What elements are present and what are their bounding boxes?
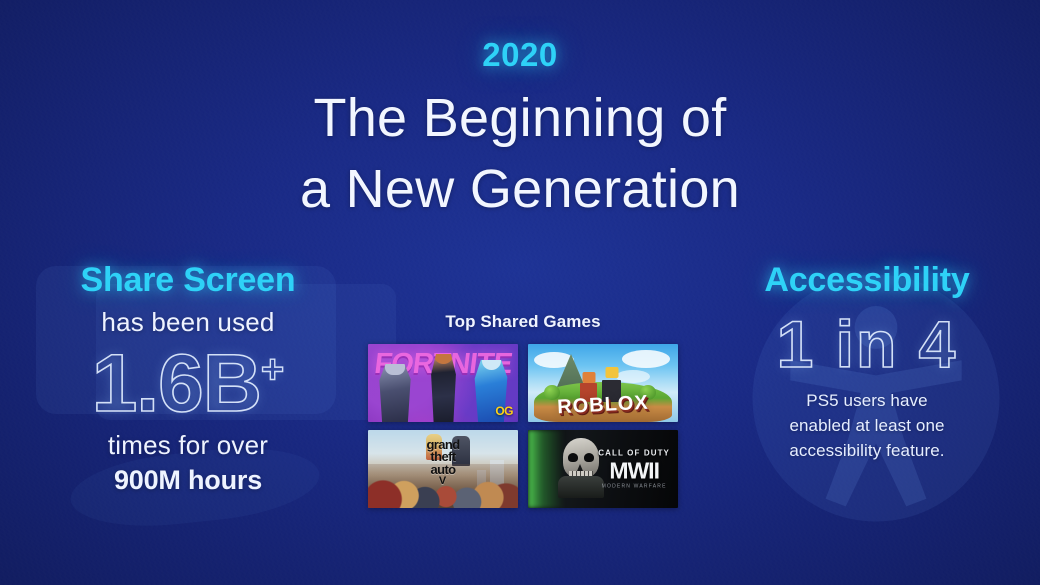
share-screen-line-3: times for over xyxy=(18,429,358,462)
game-tile-roblox[interactable]: ROBLOX Roblox xyxy=(528,344,678,422)
gta-logo: grand theft auto V xyxy=(426,439,459,487)
accessibility-panel: Accessibility 1 in 4 PS5 users have enab… xyxy=(702,262,1032,463)
cod-logo: CALL OF DUTY MWII MODERN WARFARE xyxy=(598,448,670,489)
fortnite-og-badge: OG xyxy=(495,404,513,418)
share-screen-stat-value: 1.6B xyxy=(92,338,261,429)
roblox-cloud-3 xyxy=(616,370,650,383)
share-screen-panel: Share Screen has been used 1.6B+ times f… xyxy=(18,262,358,497)
title-block: 2020 The Beginning of a New Generation xyxy=(0,38,1040,225)
game-tile-fortnite[interactable]: FORTNITE OG Fortnite xyxy=(368,344,518,422)
accessibility-stat: 1 in 4 xyxy=(702,311,1032,377)
roblox-wordmark: ROBLOX xyxy=(557,392,650,420)
gta-logo-line-4: V xyxy=(426,476,459,487)
cod-wordmark: MWII xyxy=(598,458,670,482)
accessibility-caption-line-2: enabled at least one xyxy=(702,414,1032,439)
share-screen-stat-superscript: + xyxy=(261,348,284,392)
top-shared-games-section: Top Shared Games FORTNITE OG Fortnite xyxy=(368,312,678,508)
share-screen-line-1: has been used xyxy=(18,306,358,339)
accessibility-caption: PS5 users have enabled at least one acce… xyxy=(702,389,1032,463)
game-tile-grand-theft-auto-v[interactable]: grand theft auto V Grand Theft Auto V xyxy=(368,430,518,508)
cod-brand: CALL OF DUTY xyxy=(598,448,670,457)
cod-skull-eye-right xyxy=(584,453,594,462)
cod-ghost-skull-icon xyxy=(558,438,604,498)
accessibility-heading: Accessibility xyxy=(702,262,1032,299)
accessibility-caption-line-3: accessibility feature. xyxy=(702,439,1032,464)
roblox-cloud-2 xyxy=(622,350,670,368)
share-screen-heading: Share Screen xyxy=(18,262,358,299)
roblox-character-1-head xyxy=(582,372,595,383)
cod-skull-body xyxy=(558,476,604,498)
share-screen-line-4: 900M hours xyxy=(18,463,358,497)
game-tile-call-of-duty-mwii[interactable]: CALL OF DUTY MWII MODERN WARFARE Call of… xyxy=(528,430,678,508)
roblox-character-2-head xyxy=(605,367,618,378)
infographic-slide: 2020 The Beginning of a New Generation S… xyxy=(0,0,1040,585)
year-label: 2020 xyxy=(0,38,1040,73)
accessibility-caption-line-1: PS5 users have xyxy=(702,389,1032,414)
share-screen-stat: 1.6B+ xyxy=(18,343,358,425)
page-title-line-2: a New Generation xyxy=(0,154,1040,225)
cod-skull-eye-left xyxy=(568,453,578,462)
page-title-line-1: The Beginning of xyxy=(0,83,1040,154)
cod-subtitle: MODERN WARFARE xyxy=(598,484,670,490)
fortnite-character-1 xyxy=(378,364,412,422)
game-tiles-grid: FORTNITE OG Fortnite xyxy=(368,344,678,508)
top-shared-games-heading: Top Shared Games xyxy=(368,312,678,332)
